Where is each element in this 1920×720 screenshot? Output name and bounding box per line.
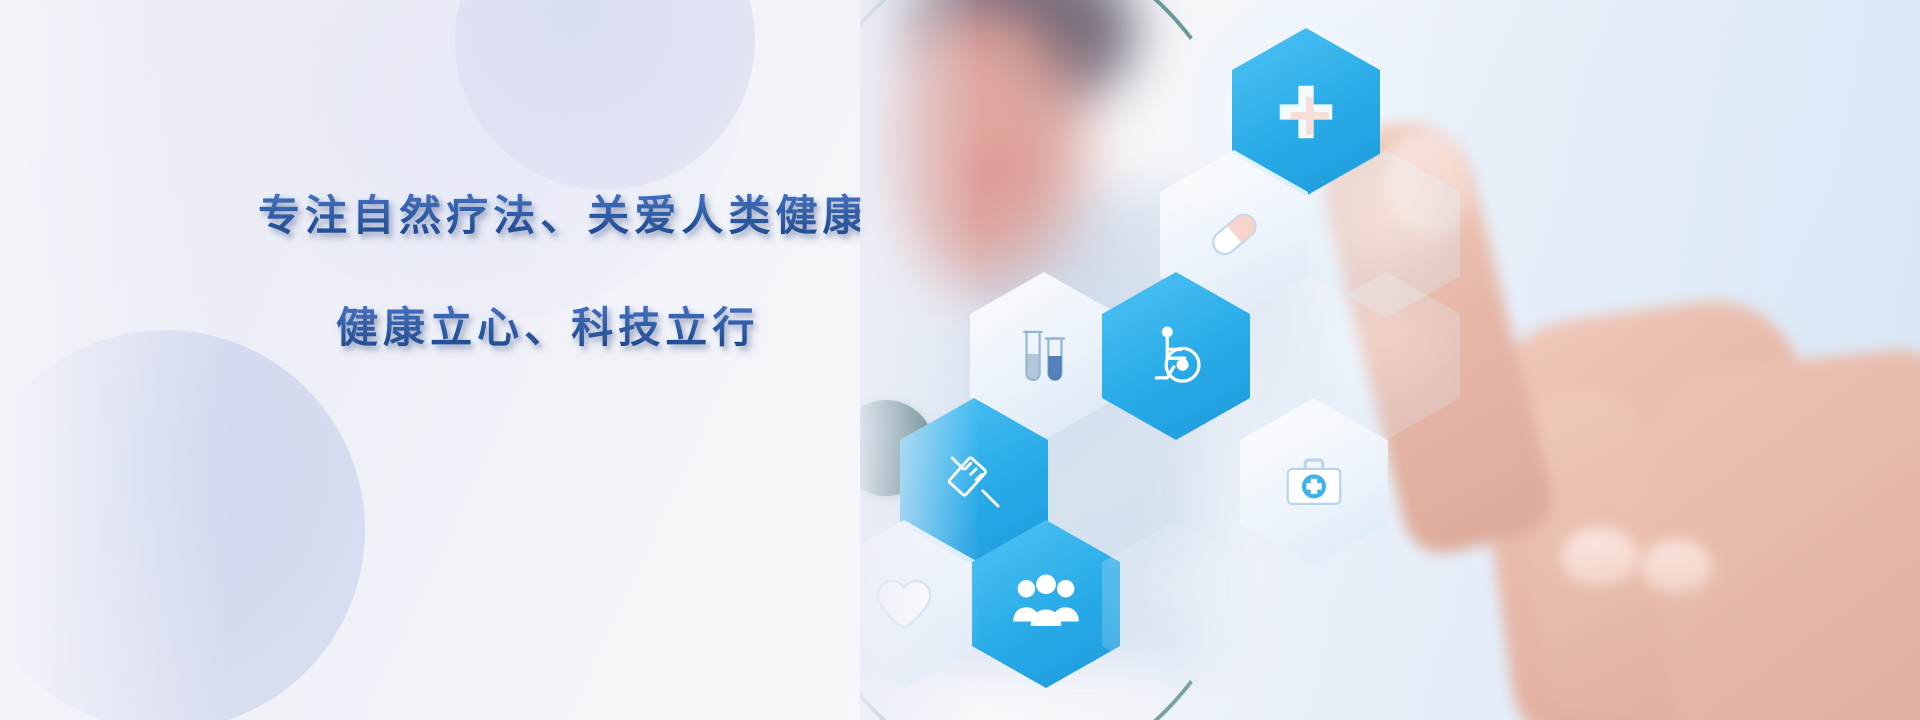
medical-cross-icon	[1271, 77, 1341, 147]
test-tubes-icon	[1009, 321, 1079, 391]
decor-circle-left-small	[0, 120, 50, 240]
hero-photo	[860, 0, 1920, 720]
hexagon-icon-grid	[860, 0, 1920, 720]
heart-icon	[869, 569, 939, 639]
headline-line-2: 健康立心、科技立行	[336, 300, 759, 356]
medical-kit-icon	[1279, 447, 1349, 517]
people-group-icon	[1011, 569, 1081, 639]
hex-tile-decor-c	[1102, 520, 1250, 688]
healthcare-hero-banner: 专注自然疗法、关爱人类健康 健康立心、科技立行	[0, 0, 1920, 720]
decor-circle-left-big	[0, 330, 365, 720]
wheelchair-icon	[1141, 321, 1211, 391]
background-glow	[230, 0, 750, 320]
decor-circle-top	[455, 0, 755, 190]
syringe-icon	[939, 447, 1009, 517]
headline-line-1: 专注自然疗法、关爱人类健康	[258, 188, 870, 244]
pill-capsule-icon	[1199, 199, 1269, 269]
